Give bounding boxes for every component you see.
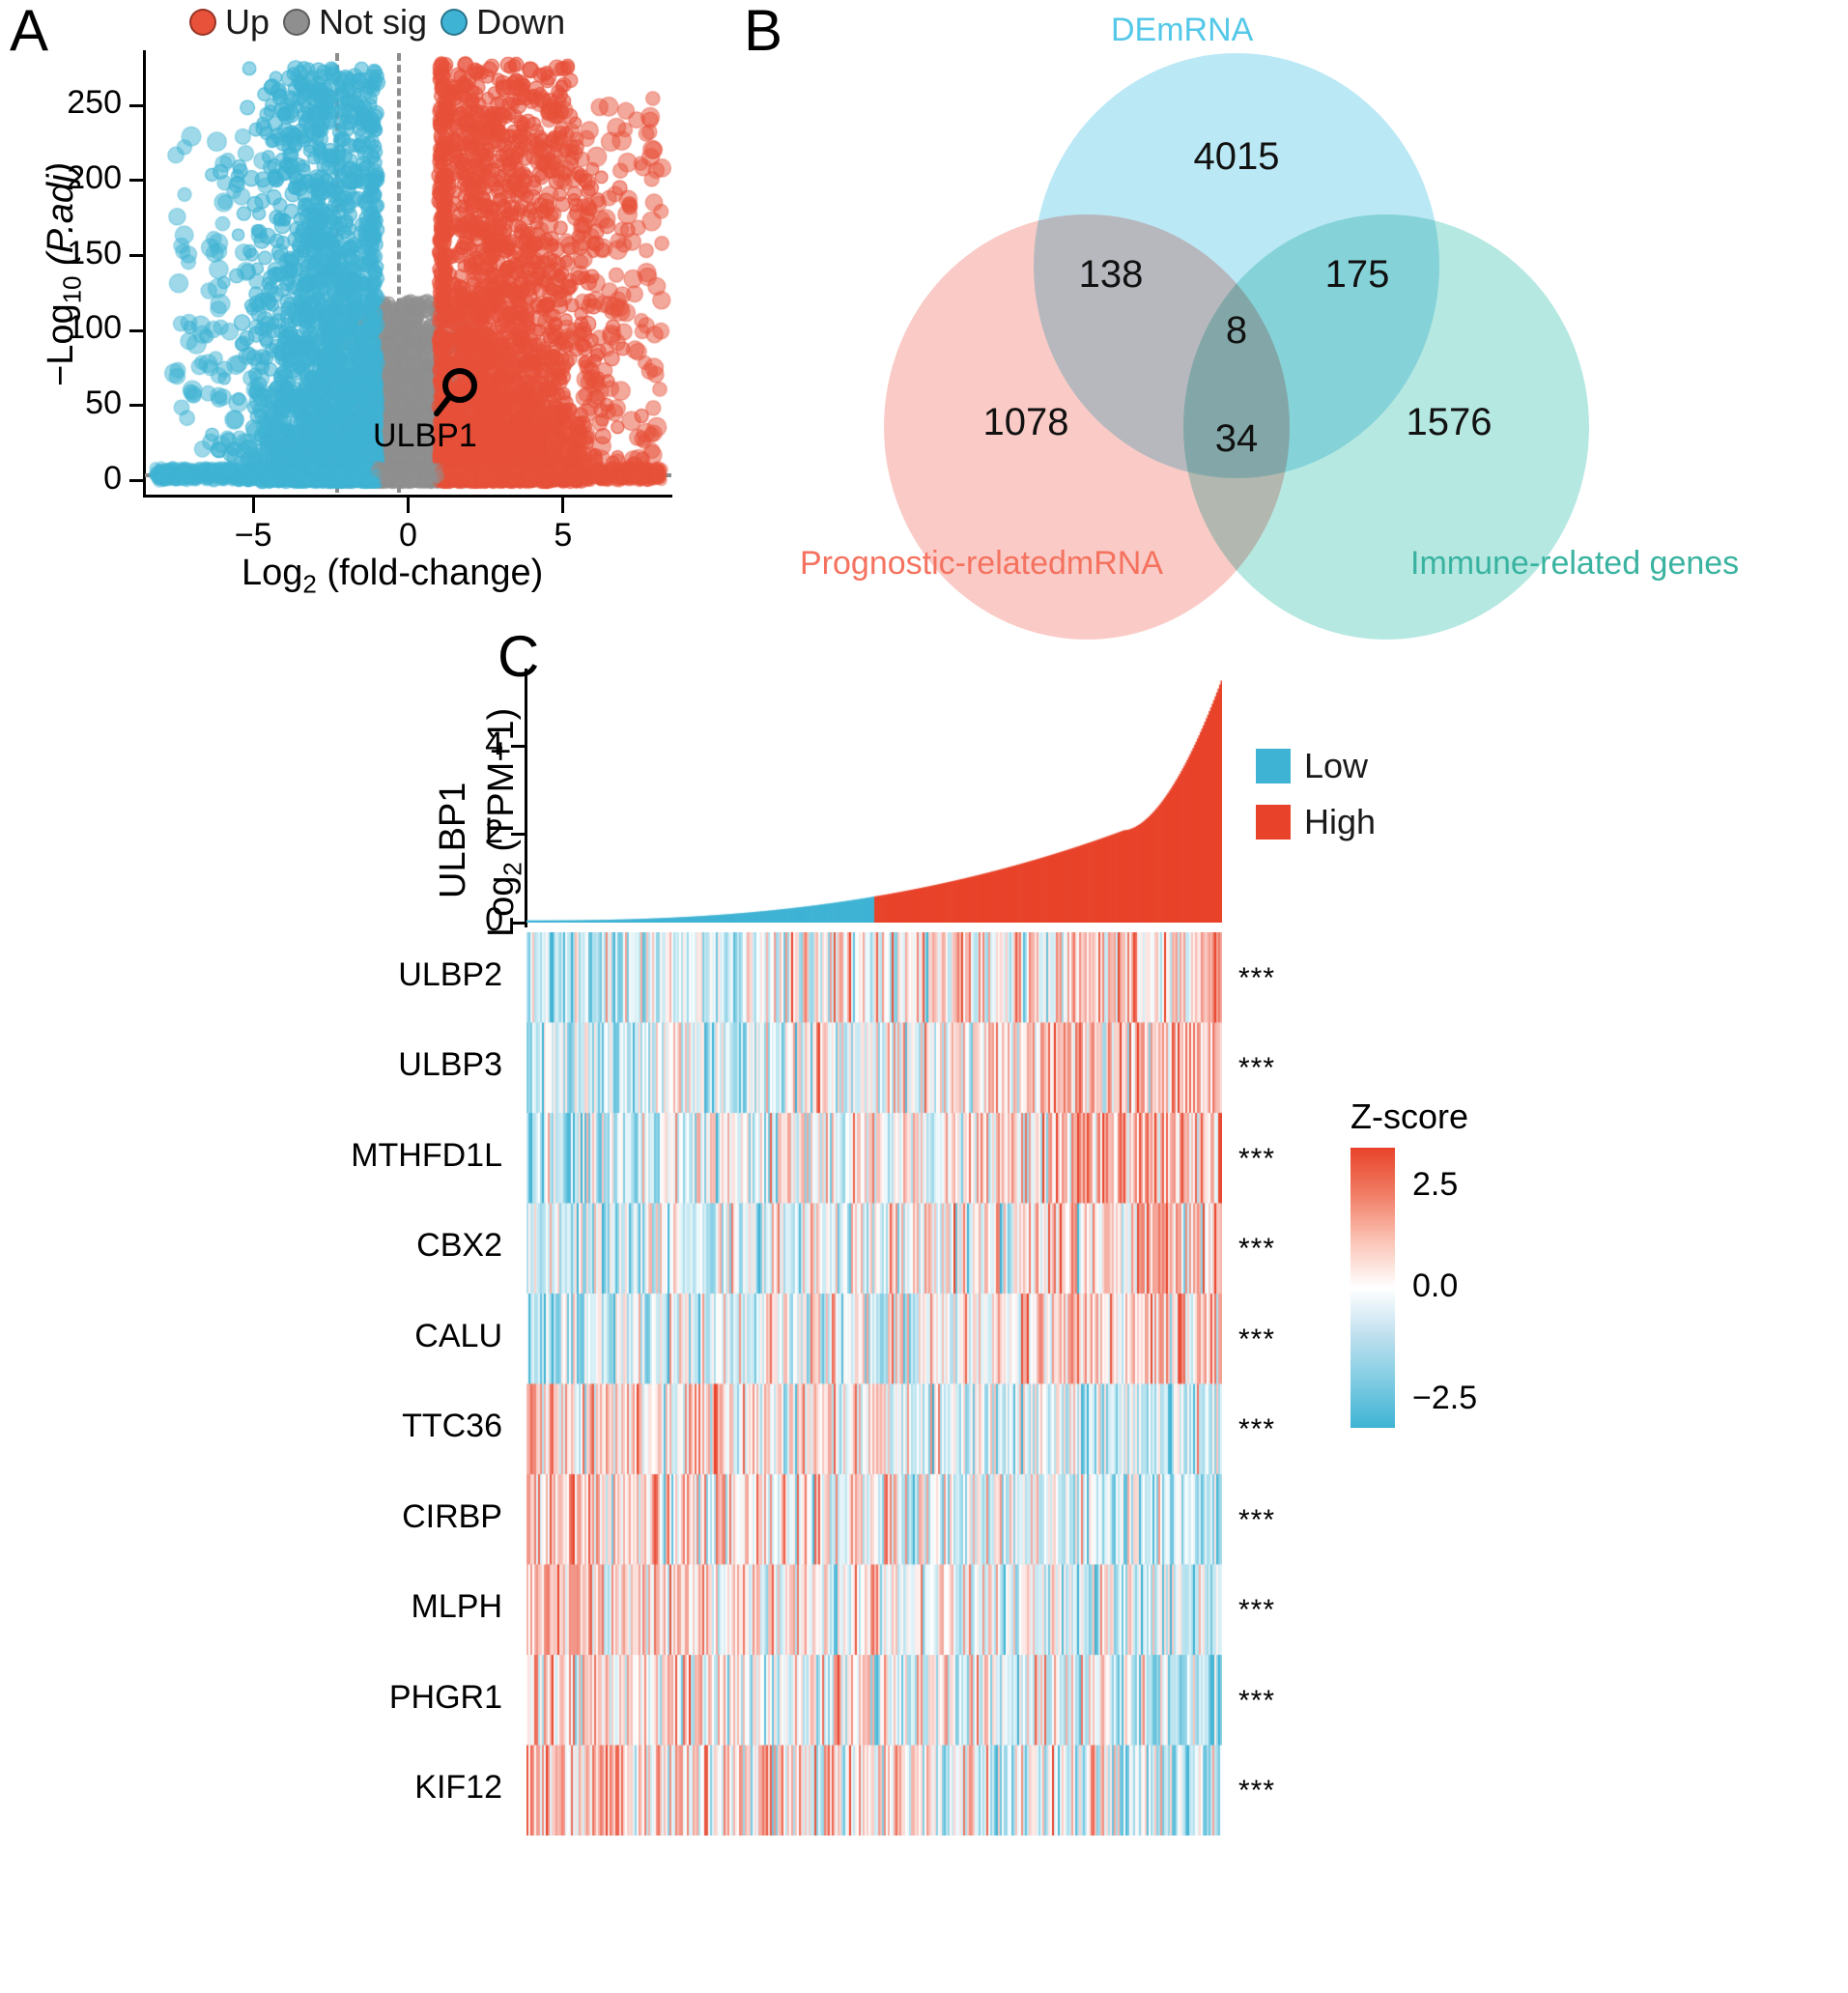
barplot-legend-item-high: High: [1256, 802, 1376, 842]
volcano-y-tick-mark: [129, 479, 145, 482]
volcano-x-tick-label: 5: [520, 517, 607, 555]
heatmap-gene-label-mlph: MLPH: [145, 1588, 502, 1626]
heatmap-gene-label-mthfd1l: MTHFD1L: [145, 1137, 502, 1175]
heatmap-significance-ttc36: ***: [1238, 1413, 1275, 1446]
ulbp1-marker-icon: [415, 367, 483, 425]
venn-count-prognostic-immune: 34: [1188, 417, 1285, 461]
heatmap-significance-ulbp3: ***: [1238, 1052, 1275, 1085]
ulbp1-annotation-label: ULBP1: [373, 417, 477, 455]
legend-dot-down-icon: [441, 9, 468, 36]
legend-label-down: Down: [476, 2, 565, 43]
venn-count-demrna-only: 4015: [1164, 135, 1309, 179]
legend-item-down: Down: [441, 2, 565, 43]
volcano-x-tick-mark: [407, 498, 410, 513]
legend-dot-notsig-icon: [283, 9, 310, 36]
heatmap-significance-phgr1: ***: [1238, 1685, 1275, 1718]
panel-a-volcano-plot: A Up Not sig Down −Log10 (P.adj) 0501001…: [0, 0, 734, 618]
heatmap-significance-mthfd1l: ***: [1238, 1143, 1275, 1176]
heatmap-significance-calu: ***: [1238, 1324, 1275, 1356]
volcano-y-tick-label: 0: [39, 460, 122, 498]
barplot-y-tick-label: 4: [440, 726, 503, 763]
volcano-y-tick-mark: [129, 254, 145, 257]
heatmap-gene-label-phgr1: PHGR1: [145, 1679, 502, 1717]
colorbar-title: Z-score: [1350, 1096, 1468, 1137]
heatmap-significance-cbx2: ***: [1238, 1233, 1275, 1266]
volcano-x-tick-mark: [561, 498, 564, 513]
volcano-y-tick-label: 100: [39, 309, 122, 347]
volcano-y-tick-label: 150: [39, 235, 122, 272]
barplot-area: [526, 676, 1222, 923]
barplot-legend-item-low: Low: [1256, 746, 1376, 786]
venn-count-prognostic-only: 1078: [949, 401, 1103, 444]
legend-label-high: High: [1304, 802, 1376, 842]
barplot-y-tick-label: 2: [440, 813, 503, 851]
heatmap-significance-kif12: ***: [1238, 1775, 1275, 1808]
colorbar-tick-25: 2.5: [1412, 1166, 1458, 1204]
volcano-x-tick-label: −5: [210, 517, 297, 555]
heatmap-gene-label-cirbp: CIRBP: [145, 1498, 502, 1536]
legend-label-low: Low: [1304, 746, 1368, 786]
volcano-y-tick-label: 250: [39, 84, 122, 122]
legend-swatch-low-icon: [1256, 749, 1291, 783]
volcano-y-tick-label: 50: [39, 384, 122, 422]
volcano-legend: Up Not sig Down: [189, 2, 565, 43]
venn-count-all-three: 8: [1188, 309, 1285, 353]
heatmap-gene-label-ttc36: TTC36: [145, 1408, 502, 1445]
volcano-y-tick-mark: [129, 329, 145, 332]
heatmap-grid: [526, 932, 1222, 1836]
barplot-y-tick-mark: [511, 745, 526, 748]
volcano-y-tick-mark: [129, 104, 145, 107]
panel-a-letter: A: [10, 2, 48, 60]
volcano-x-tick-label: 0: [365, 517, 452, 555]
legend-item-up: Up: [189, 2, 270, 43]
volcano-y-tick-mark: [129, 179, 145, 182]
venn-count-demrna-immune: 175: [1299, 253, 1415, 297]
colorbar-tick-neg25: −2.5: [1412, 1380, 1477, 1417]
heatmap-gene-label-calu: CALU: [145, 1318, 502, 1355]
barplot-y-tick-label: 0: [440, 901, 503, 939]
volcano-x-axis-title: Log2 (fold-change): [242, 553, 543, 600]
venn-set-label-immune: Immune-related genes: [1410, 545, 1739, 583]
venn-count-immune-only: 1576: [1372, 401, 1526, 444]
heatmap-significance-cirbp: ***: [1238, 1504, 1275, 1537]
heatmap-gene-label-ulbp3: ULBP3: [145, 1046, 502, 1084]
venn-count-demrna-prognostic: 138: [1053, 253, 1169, 297]
figure-root: A Up Not sig Down −Log10 (P.adj) 0501001…: [0, 0, 1848, 1993]
heatmap-gene-label-cbx2: CBX2: [145, 1227, 502, 1265]
legend-dot-up-icon: [189, 9, 216, 36]
volcano-x-tick-mark: [252, 498, 255, 513]
panel-b-venn-diagram: B DEmRNA 4015 138 175 8 1078 34 1576 Pro…: [734, 0, 1848, 618]
legend-label-notsig: Not sig: [319, 2, 427, 43]
heatmap-gene-label-ulbp2: ULBP2: [145, 956, 502, 994]
colorbar-tick-00: 0.0: [1412, 1267, 1458, 1305]
venn-set-label-prognostic: Prognostic-relatedmRNA: [800, 545, 1163, 583]
legend-swatch-high-icon: [1256, 805, 1291, 840]
heatmap-significance-ulbp2: ***: [1238, 962, 1275, 995]
heatmap-significance-mlph: ***: [1238, 1594, 1275, 1627]
venn-shapes: [734, 0, 1848, 618]
volcano-y-tick-label: 200: [39, 159, 122, 197]
panel-c-expression-heatmap: C ULBP1 Log2 (TPM+1) 024 Low High ULBP2U…: [0, 618, 1848, 1993]
colorbar-gradient: [1350, 1148, 1395, 1428]
barplot-legend: Low High: [1256, 746, 1376, 858]
barplot-y-tick-mark: [511, 922, 526, 925]
legend-item-notsig: Not sig: [283, 2, 427, 43]
heatmap-gene-label-kif12: KIF12: [145, 1769, 502, 1807]
legend-label-up: Up: [225, 2, 270, 43]
volcano-y-tick-mark: [129, 404, 145, 407]
barplot-y-tick-mark: [511, 833, 526, 836]
